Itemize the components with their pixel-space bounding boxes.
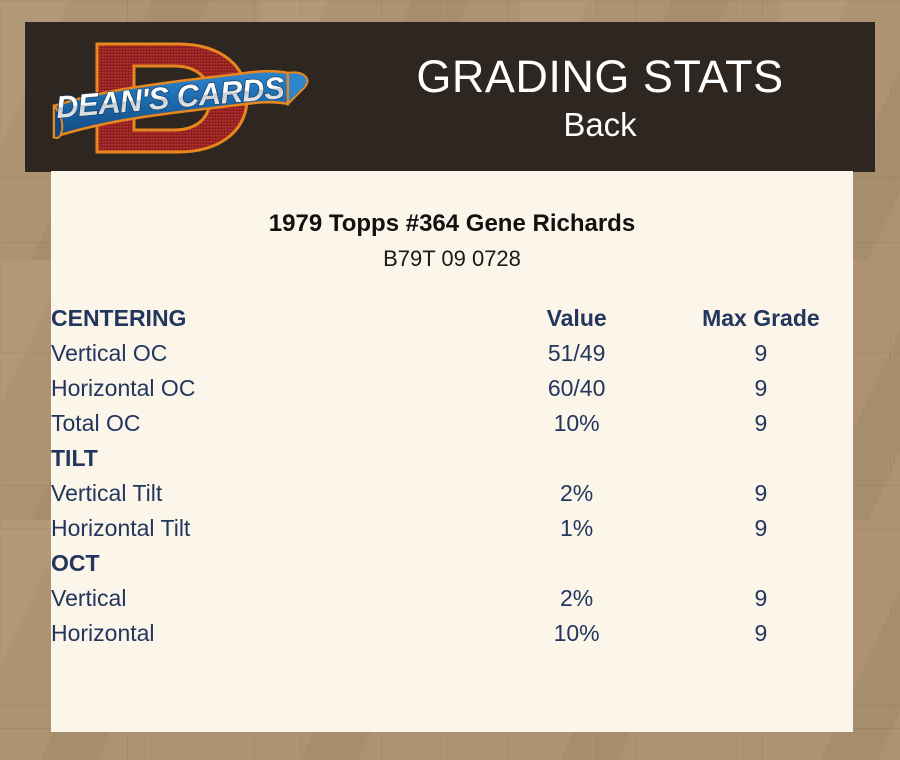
row-value: 60/40 — [485, 371, 669, 406]
stats-table-body: CENTERING Value Max Grade Vertical OC 51… — [51, 301, 853, 651]
row-label: Vertical Tilt — [51, 476, 485, 511]
row-value: 51/49 — [485, 336, 669, 371]
row-max-grade: 9 — [669, 511, 853, 546]
table-row: Horizontal Tilt 1% 9 — [51, 511, 853, 546]
table-row: Horizontal 10% 9 — [51, 616, 853, 651]
card-title: 1979 Topps #364 Gene Richards — [51, 210, 853, 238]
table-row: Total OC 10% 9 — [51, 406, 853, 441]
row-value: 2% — [485, 581, 669, 616]
section-title-centering: CENTERING — [51, 301, 485, 336]
row-value: 10% — [485, 616, 669, 651]
row-max-grade: 9 — [669, 476, 853, 511]
card-serial-number: B79T 09 0728 — [51, 246, 853, 272]
table-row: Horizontal OC 60/40 9 — [51, 371, 853, 406]
row-label: Horizontal — [51, 616, 485, 651]
section-spacer-value — [485, 546, 669, 581]
row-max-grade: 9 — [669, 371, 853, 406]
header-bar: DEAN'S CARDS GRADING STATS Back — [25, 22, 875, 172]
logo-banner-text: DEAN'S CARDS — [55, 70, 287, 125]
stats-panel: 1979 Topps #364 Gene Richards B79T 09 07… — [51, 171, 853, 732]
section-header-centering: CENTERING Value Max Grade — [51, 301, 853, 336]
deans-cards-logo[interactable]: DEAN'S CARDS — [50, 30, 320, 166]
section-spacer-grade — [669, 546, 853, 581]
section-spacer-grade — [669, 441, 853, 476]
table-row: Vertical OC 51/49 9 — [51, 336, 853, 371]
section-spacer-value — [485, 441, 669, 476]
row-label: Vertical OC — [51, 336, 485, 371]
section-header-oct: OCT — [51, 546, 853, 581]
logo-svg: DEAN'S CARDS — [50, 30, 320, 166]
section-header-tilt: TILT — [51, 441, 853, 476]
row-max-grade: 9 — [669, 616, 853, 651]
row-max-grade: 9 — [669, 336, 853, 371]
table-row: Vertical 2% 9 — [51, 581, 853, 616]
row-label: Horizontal Tilt — [51, 511, 485, 546]
row-label: Total OC — [51, 406, 485, 441]
table-row: Vertical Tilt 2% 9 — [51, 476, 853, 511]
column-header-max-grade: Max Grade — [669, 301, 853, 336]
row-max-grade: 9 — [669, 406, 853, 441]
section-title-oct: OCT — [51, 546, 485, 581]
section-title-tilt: TILT — [51, 441, 485, 476]
header-text-group: GRADING STATS Back — [325, 22, 875, 172]
row-value: 10% — [485, 406, 669, 441]
page-title: GRADING STATS — [416, 51, 783, 103]
column-header-value: Value — [485, 301, 669, 336]
row-value: 1% — [485, 511, 669, 546]
row-label: Horizontal OC — [51, 371, 485, 406]
page-subtitle: Back — [563, 106, 636, 144]
grading-stats-table: CENTERING Value Max Grade Vertical OC 51… — [51, 301, 853, 651]
row-max-grade: 9 — [669, 581, 853, 616]
row-label: Vertical — [51, 581, 485, 616]
row-value: 2% — [485, 476, 669, 511]
